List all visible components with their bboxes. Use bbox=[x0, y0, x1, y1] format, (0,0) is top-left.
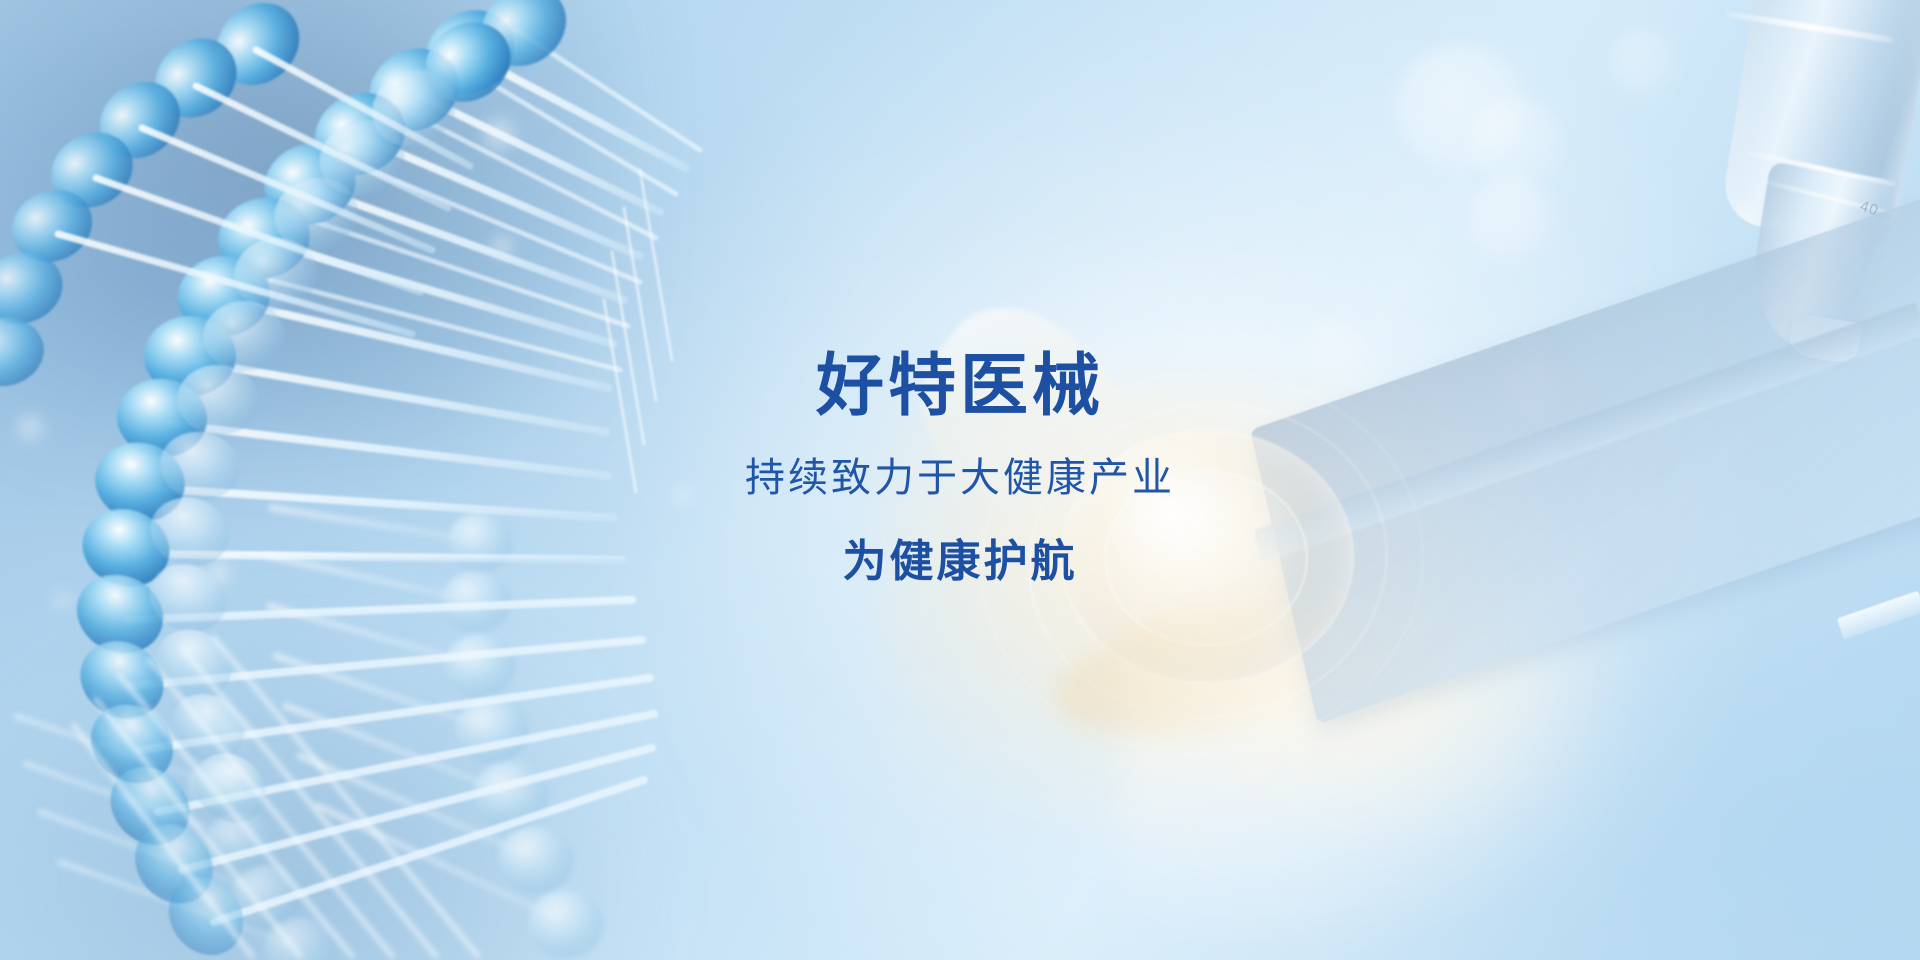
bokeh-circle bbox=[1470, 96, 1562, 188]
bokeh-circle bbox=[222, 722, 246, 746]
bokeh-circle bbox=[492, 236, 514, 258]
hero-subtitle: 持续致力于大健康产业 bbox=[0, 458, 1920, 498]
hero-text-block: 好特医械 持续致力于大健康产业 为健康护航 bbox=[0, 352, 1920, 584]
bokeh-circle bbox=[54, 592, 72, 610]
bokeh-circle bbox=[482, 118, 518, 154]
bokeh-circle bbox=[1608, 28, 1678, 98]
hero-tagline: 为健康护航 bbox=[0, 540, 1920, 584]
bokeh-circle bbox=[1396, 44, 1524, 172]
bokeh-circle bbox=[1468, 176, 1554, 262]
hero-banner: 40 bbox=[0, 0, 1920, 960]
page-title: 好特医械 bbox=[0, 352, 1920, 420]
